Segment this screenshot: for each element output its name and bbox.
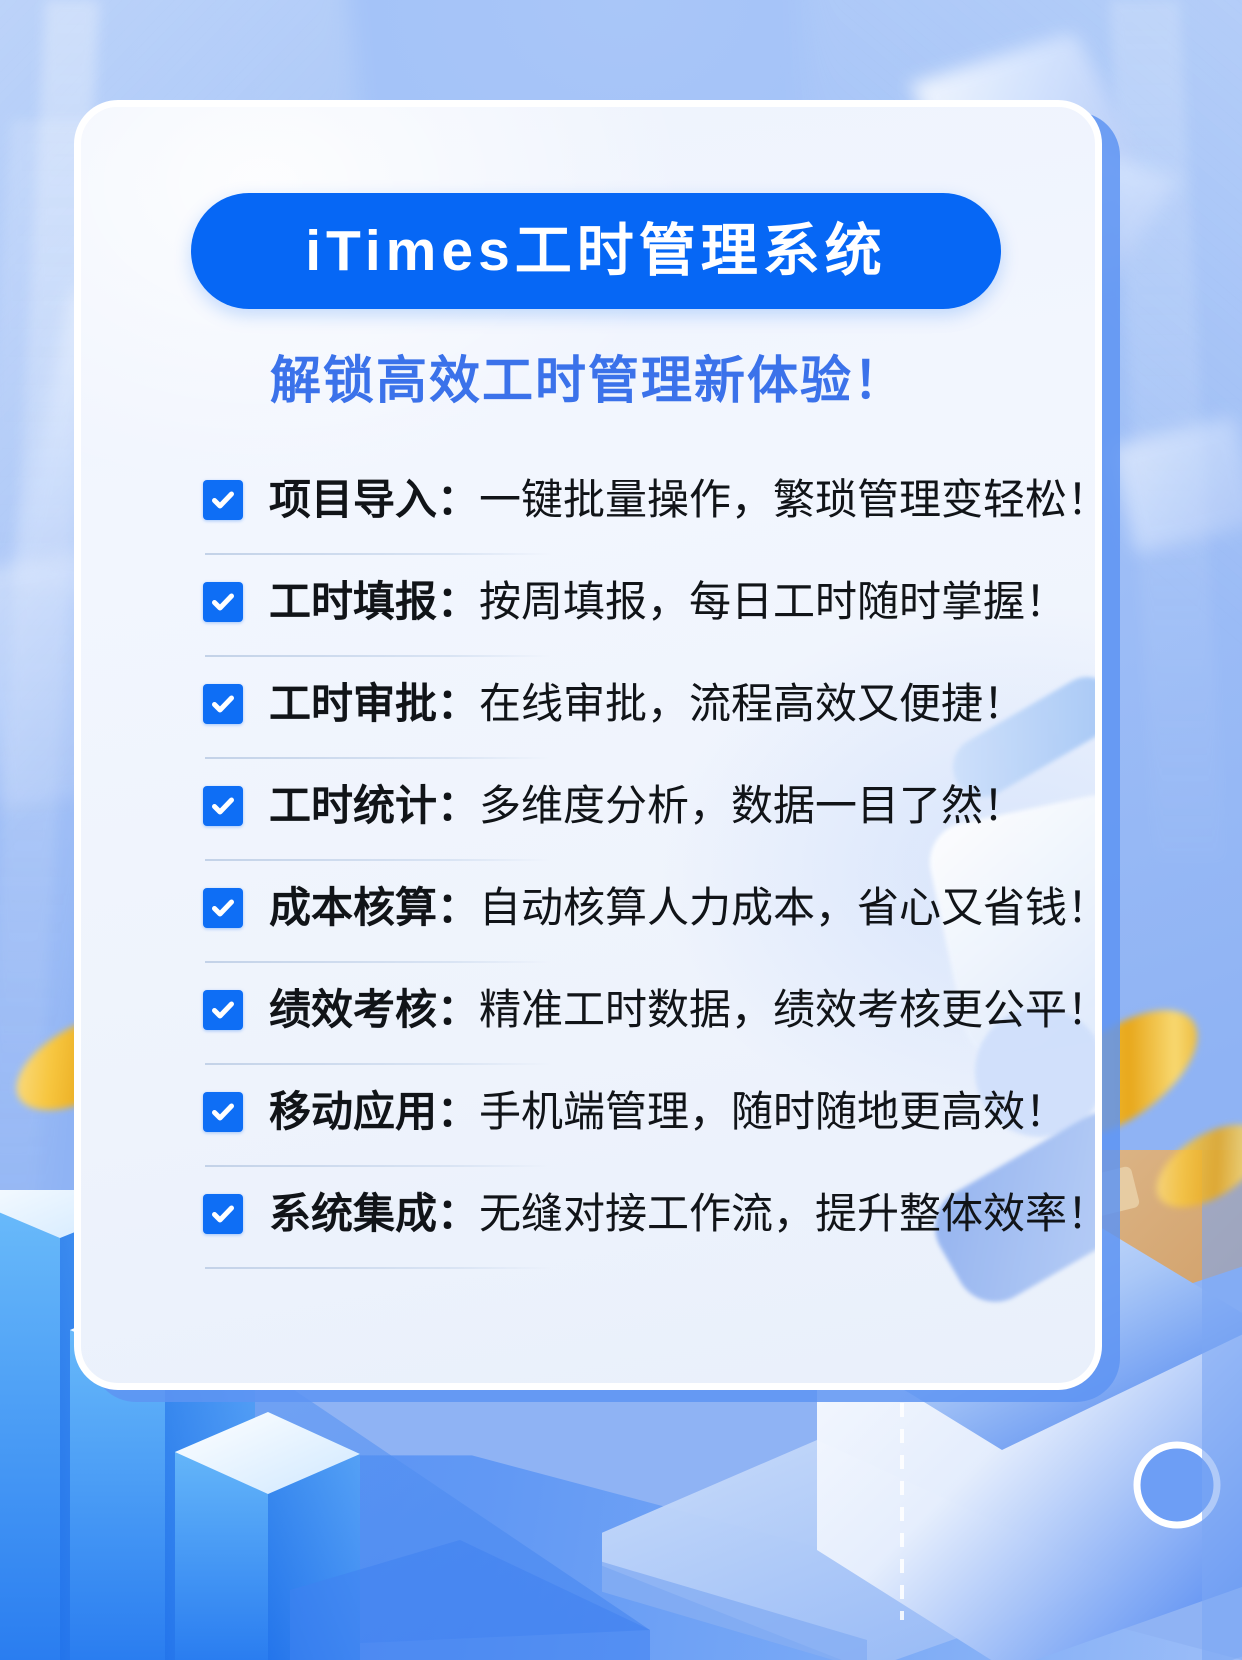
list-divider (205, 553, 551, 555)
feature-desc: 无缝对接工作流，提升整体效率！ (479, 1190, 1102, 1237)
feature-label: 工时填报：按周填报，每日工时随时掌握！ (269, 581, 1067, 623)
feature-label: 绩效考核：精准工时数据，绩效考核更公平！ (269, 989, 1102, 1031)
list-divider (205, 1267, 551, 1269)
feature-card: iTimes工时管理系统 解锁高效工时管理新体验！ 项目导入：一键批量操作，繁琐… (74, 100, 1102, 1390)
list-divider (205, 1165, 551, 1167)
feature-label: 成本核算：自动核算人力成本，省心又省钱！ (269, 887, 1102, 929)
list-item: 系统集成：无缝对接工作流，提升整体效率！ (203, 1181, 1003, 1247)
page-title: iTimes工时管理系统 (305, 223, 887, 280)
feature-desc: 多维度分析，数据一目了然！ (479, 782, 1025, 829)
list-item: 工时统计：多维度分析，数据一目了然！ (203, 773, 1003, 839)
feature-key: 项目导入： (269, 476, 479, 523)
feature-label: 系统集成：无缝对接工作流，提升整体效率！ (269, 1193, 1102, 1235)
list-item: 项目导入：一键批量操作，繁琐管理变轻松！ (203, 467, 1003, 533)
checkbox-checked-icon (203, 480, 243, 520)
feature-label: 移动应用：手机端管理，随时随地更高效！ (269, 1091, 1067, 1133)
feature-desc: 按周填报，每日工时随时掌握！ (479, 578, 1067, 625)
feature-key: 成本核算： (269, 884, 479, 931)
feature-desc: 自动核算人力成本，省心又省钱！ (479, 884, 1102, 931)
checkbox-checked-icon (203, 786, 243, 826)
promo-poster: iTimes工时管理系统 解锁高效工时管理新体验！ 项目导入：一键批量操作，繁琐… (0, 0, 1242, 1660)
list-divider (205, 1063, 551, 1065)
feature-label: 工时审批：在线审批，流程高效又便捷！ (269, 683, 1025, 725)
list-divider (205, 961, 551, 963)
feature-desc: 一键批量操作，繁琐管理变轻松！ (479, 476, 1102, 523)
list-item: 工时填报：按周填报，每日工时随时掌握！ (203, 569, 1003, 635)
list-item: 移动应用：手机端管理，随时随地更高效！ (203, 1079, 1003, 1145)
list-divider (205, 757, 551, 759)
feature-key: 工时审批： (269, 680, 479, 727)
feature-desc: 精准工时数据，绩效考核更公平！ (479, 986, 1102, 1033)
title-badge: iTimes工时管理系统 (191, 193, 1001, 309)
feature-desc: 手机端管理，随时随地更高效！ (479, 1088, 1067, 1135)
feature-list: 项目导入：一键批量操作，繁琐管理变轻松！ 工时填报：按周填报，每日工时随时掌握！… (203, 467, 1003, 1247)
checkbox-checked-icon (203, 990, 243, 1030)
list-divider (205, 859, 551, 861)
checkbox-checked-icon (203, 582, 243, 622)
feature-key: 系统集成： (269, 1190, 479, 1237)
checkbox-checked-icon (203, 1092, 243, 1132)
list-divider (205, 655, 551, 657)
feature-key: 工时统计： (269, 782, 479, 829)
feature-desc: 在线审批，流程高效又便捷！ (479, 680, 1025, 727)
list-item: 成本核算：自动核算人力成本，省心又省钱！ (203, 875, 1003, 941)
checkbox-checked-icon (203, 684, 243, 724)
feature-key: 移动应用： (269, 1088, 479, 1135)
feature-key: 工时填报： (269, 578, 479, 625)
page-subtitle: 解锁高效工时管理新体验！ (81, 339, 1095, 413)
list-item: 绩效考核：精准工时数据，绩效考核更公平！ (203, 977, 1003, 1043)
feature-label: 项目导入：一键批量操作，繁琐管理变轻松！ (269, 479, 1102, 521)
feature-label: 工时统计：多维度分析，数据一目了然！ (269, 785, 1025, 827)
feature-key: 绩效考核： (269, 986, 479, 1033)
checkbox-checked-icon (203, 1194, 243, 1234)
checkbox-checked-icon (203, 888, 243, 928)
list-item: 工时审批：在线审批，流程高效又便捷！ (203, 671, 1003, 737)
